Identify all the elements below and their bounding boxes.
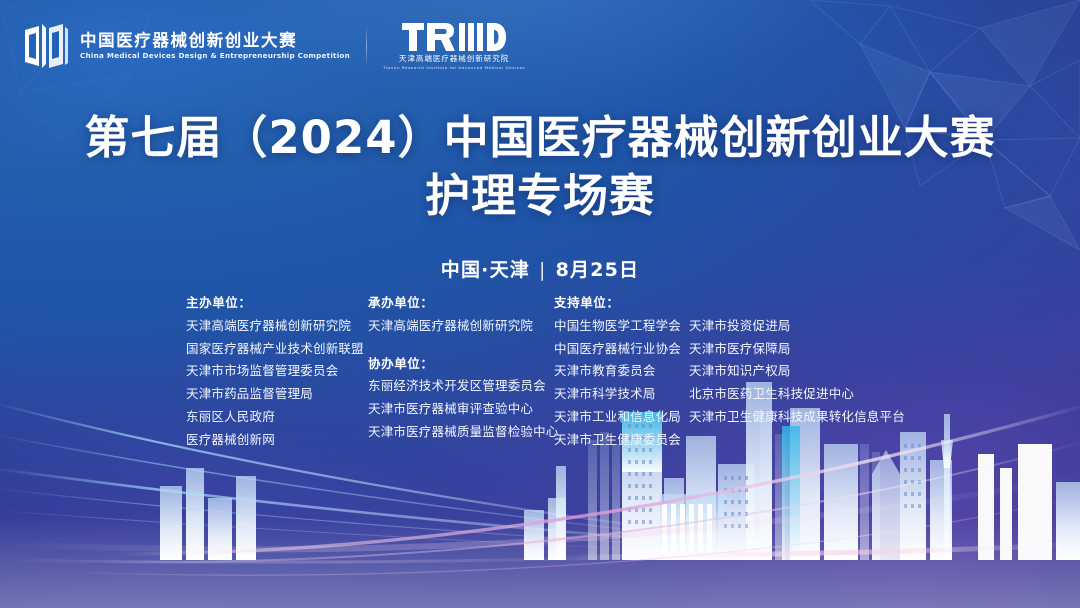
competition-logo-en: China Medical Devices Design & Entrepren… (80, 52, 350, 60)
coorganizer-item: 天津市医疗器械审评查验中心 (368, 398, 554, 421)
supporter-item: 天津市知识产权局 (689, 360, 904, 383)
institute-logo: 天津高端医疗器械创新研究院 Tianjin Research Institute… (383, 22, 525, 70)
competition-logo: 中国医疗器械创新创业大赛 China Medical Devices Desig… (22, 23, 350, 69)
supporter-item: 天津市工业和信息化局 (554, 406, 689, 429)
coorganizer-item: 天津市医疗器械质量监督检验中心 (368, 421, 554, 444)
host-item: 医疗器械创新网 (186, 429, 368, 452)
organizer-item: 天津高端医疗器械创新研究院 (368, 315, 554, 338)
host-item: 天津市药品监督管理局 (186, 383, 368, 406)
supporter-item: 天津市卫生健康委员会 (554, 429, 689, 452)
supporter-item: 天津市科学技术局 (554, 383, 689, 406)
column-spacer (689, 292, 904, 315)
supporter-item: 天津市投资促进局 (689, 315, 904, 338)
organizer-heading: 承办单位： (368, 292, 554, 315)
header-logo-bar: 中国医疗器械创新创业大赛 China Medical Devices Desig… (22, 22, 525, 70)
column-gap (368, 338, 554, 353)
event-location: 中国·天津 (441, 259, 530, 281)
supporters-heading: 支持单位： (554, 292, 689, 315)
competition-logo-cn: 中国医疗器械创新创业大赛 (80, 32, 350, 49)
host-column: 主办单位： 天津高端医疗器械创新研究院 国家医疗器械产业技术创新联盟 天津市市场… (186, 292, 368, 451)
host-item: 东丽区人民政府 (186, 406, 368, 429)
event-date-location: 中国·天津|8月25日 (0, 255, 1080, 282)
open-door-logo-icon (22, 23, 70, 69)
triid-wordmark-icon (402, 22, 506, 52)
host-item: 天津市市场监督管理委员会 (186, 360, 368, 383)
coorganizer-item: 东丽经济技术开发区管理委员会 (368, 375, 554, 398)
organizer-column: 承办单位： 天津高端医疗器械创新研究院 协办单位： 东丽经济技术开发区管理委员会… (368, 292, 554, 444)
coorganizer-heading: 协办单位： (368, 353, 554, 376)
host-item: 天津高端医疗器械创新研究院 (186, 315, 368, 338)
host-item: 国家医疗器械产业技术创新联盟 (186, 338, 368, 361)
supporters-column-a: 支持单位： 中国生物医学工程学会 中国医疗器械行业协会 天津市教育委员会 天津市… (554, 292, 689, 451)
supporters-column-b: 天津市投资促进局 天津市医疗保障局 天津市知识产权局 北京市医药卫生科技促进中心… (689, 292, 904, 429)
supporter-item: 天津市教育委员会 (554, 360, 689, 383)
poster-title: 第七届（2024）中国医疗器械创新创业大赛 护理专场赛 (0, 112, 1080, 222)
institute-logo-cn: 天津高端医疗器械创新研究院 (399, 55, 509, 63)
supporter-item: 中国医疗器械行业协会 (554, 338, 689, 361)
competition-logo-text: 中国医疗器械创新创业大赛 China Medical Devices Desig… (80, 32, 350, 59)
institute-logo-en: Tianjin Research Institute for Advanced … (383, 66, 525, 70)
logo-divider (366, 25, 367, 67)
host-heading: 主办单位： (186, 292, 368, 315)
event-separator: | (539, 259, 547, 281)
title-line-1: 第七届（2024）中国医疗器械创新创业大赛 (0, 112, 1080, 164)
supporter-item: 天津市卫生健康科技成果转化信息平台 (689, 406, 904, 429)
supporter-item: 天津市医疗保障局 (689, 338, 904, 361)
supporter-item: 中国生物医学工程学会 (554, 315, 689, 338)
title-line-2: 护理专场赛 (0, 170, 1080, 222)
supporter-item: 北京市医药卫生科技促进中心 (689, 383, 904, 406)
event-date: 8月25日 (556, 259, 640, 281)
poster-canvas: 中国医疗器械创新创业大赛 China Medical Devices Desig… (0, 0, 1080, 608)
organizers-block: 主办单位： 天津高端医疗器械创新研究院 国家医疗器械产业技术创新联盟 天津市市场… (186, 292, 910, 451)
